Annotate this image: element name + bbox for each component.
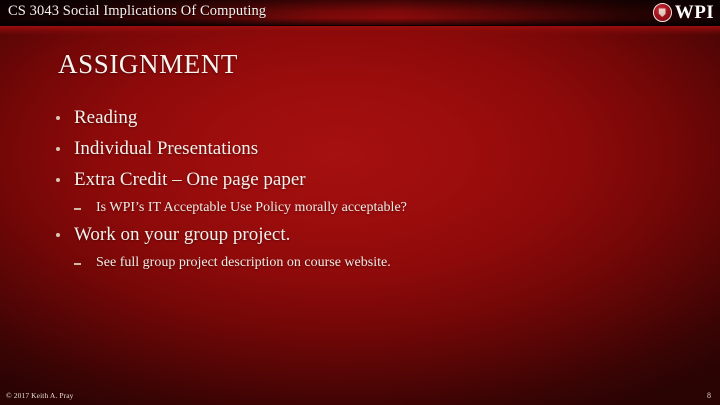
bullet-dot-icon: [56, 178, 60, 182]
course-title: CS 3043 Social Implications Of Computing: [8, 3, 266, 20]
copyright-notice: © 2017 Keith A. Pray: [6, 391, 74, 400]
wpi-seal-icon: [653, 3, 672, 22]
bullet-dash-icon: [74, 208, 81, 210]
presentation-slide: CS 3043 Social Implications Of Computing…: [0, 0, 720, 405]
wpi-logo: WPI: [653, 1, 714, 24]
bullet-dot-icon: [56, 147, 60, 151]
sub-list-item-label: Is WPI’s IT Acceptable Use Policy morall…: [96, 200, 407, 215]
bullet-dash-icon: [74, 263, 81, 265]
list-item-label: Work on your group project.: [74, 224, 290, 245]
slide-content: Reading Individual Presentations Extra C…: [52, 108, 682, 280]
list-item-label: Extra Credit – One page paper: [74, 169, 306, 190]
list-item-label: Reading: [74, 107, 137, 128]
header-underline: [0, 25, 720, 26]
bullet-dot-icon: [56, 233, 60, 237]
list-item: Reading: [52, 108, 682, 127]
slide-number: 8: [707, 391, 711, 400]
sub-list-item: See full group project description on co…: [52, 256, 682, 270]
list-item: Work on your group project.: [52, 225, 682, 244]
list-item: Individual Presentations: [52, 139, 682, 158]
list-item: Extra Credit – One page paper: [52, 170, 682, 189]
wpi-wordmark: WPI: [675, 3, 714, 22]
page-title: ASSIGNMENT: [58, 49, 238, 80]
list-item-label: Individual Presentations: [74, 138, 258, 159]
header-glow-band: [0, 26, 720, 35]
sub-list-item-label: See full group project description on co…: [96, 255, 391, 270]
bullet-dot-icon: [56, 116, 60, 120]
sub-list-item: Is WPI’s IT Acceptable Use Policy morall…: [52, 201, 682, 215]
